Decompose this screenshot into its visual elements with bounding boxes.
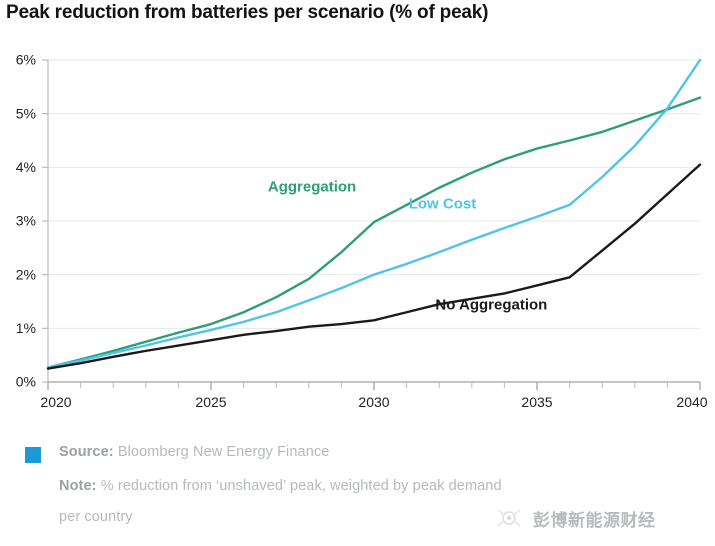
y-tick-label: 4% [16, 159, 36, 175]
note-value: % reduction from ‘unshaved’ peak, weight… [101, 478, 502, 494]
series-line [48, 98, 700, 368]
line-chart-svg: 0%1%2%3%4%5%6% 20202025203020352040 Aggr… [0, 42, 715, 414]
y-tick-label: 6% [16, 52, 36, 68]
series-paths-group [48, 60, 700, 369]
source-value: Bloomberg New Energy Finance [118, 444, 330, 460]
x-tick-label: 2030 [358, 394, 389, 410]
x-tick-group: 20202025203020352040 [40, 382, 707, 410]
series-label: Low Cost [409, 196, 477, 213]
watermark-logo-icon [492, 505, 526, 531]
x-tick-label: 2020 [40, 394, 71, 410]
series-line [48, 165, 700, 369]
page-title: Peak reduction from batteries per scenar… [6, 2, 488, 24]
chart-plot-area: 0%1%2%3%4%5%6% 20202025203020352040 Aggr… [0, 42, 715, 414]
note-label: Note: [59, 478, 97, 494]
x-tick-label: 2040 [676, 394, 707, 410]
watermark: 彭博新能源财经 [492, 505, 656, 531]
y-tick-label: 1% [16, 320, 36, 336]
y-tick-label: 0% [16, 374, 36, 390]
series-label: No Aggregation [435, 297, 547, 314]
source-swatch-icon [25, 447, 41, 463]
y-tick-label: 5% [16, 105, 36, 121]
x-tick-label: 2035 [521, 394, 552, 410]
watermark-text: 彭博新能源财经 [533, 506, 656, 531]
source-line: Source: Bloomberg New Energy Finance [59, 444, 329, 460]
note-line: Note: % reduction from ‘unshaved’ peak, … [59, 478, 502, 494]
y-tick-label: 2% [16, 266, 36, 282]
gridlines-group [48, 60, 700, 328]
x-tick-label: 2025 [195, 394, 226, 410]
series-label: Aggregation [268, 178, 356, 195]
source-label: Source: [59, 444, 114, 460]
y-tick-group: 0%1%2%3%4%5%6% [16, 52, 48, 390]
y-tick-label: 3% [16, 213, 36, 229]
note-line-continued: per country [59, 509, 133, 525]
